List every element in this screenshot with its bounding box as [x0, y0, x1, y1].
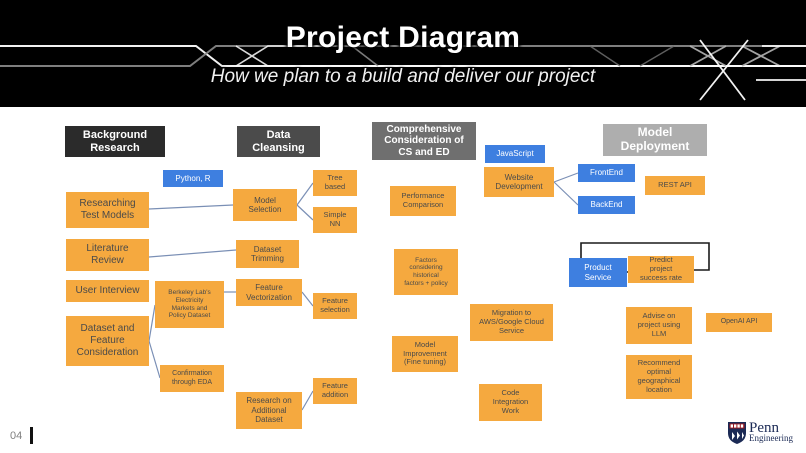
connector-website-dev-to-backend — [554, 182, 578, 205]
node-research-add[interactable]: Research on Additional Dataset — [236, 392, 302, 429]
penn-shield-icon — [727, 421, 747, 445]
node-openai-api[interactable]: OpenAI API — [706, 313, 772, 332]
node-researching[interactable]: Researching Test Models — [66, 192, 149, 228]
connector-feat-vector-to-feat-selection — [302, 292, 313, 306]
penn-engineering-logo: Penn Engineering — [727, 421, 799, 447]
page-number: 04 — [10, 430, 22, 442]
node-confirm-eda[interactable]: Confirmation through EDA — [160, 365, 224, 392]
connector-literature-to-dataset-trim — [149, 250, 236, 257]
node-dataset-feature[interactable]: Dataset and Feature Consideration — [66, 316, 149, 366]
node-code-integration[interactable]: Code Integration Work — [479, 384, 542, 421]
node-website-dev[interactable]: Website Development — [484, 167, 554, 197]
page-subtitle: How we plan to a build and deliver our p… — [0, 66, 806, 88]
node-feat-selection[interactable]: Feature selection — [313, 293, 357, 319]
node-rest-api[interactable]: REST API — [645, 176, 705, 195]
node-product-service[interactable]: Product Service — [569, 258, 627, 287]
node-migration[interactable]: Migration to AWS/Google Cloud Service — [470, 304, 553, 341]
node-perf-comp[interactable]: Performance Comparison — [390, 186, 456, 216]
node-javascript[interactable]: JavaScript — [485, 145, 545, 163]
node-predict[interactable]: Predict project success rate — [628, 256, 694, 283]
connector-research-add-to-feat-addition — [302, 391, 313, 410]
slide-canvas: Project Diagram How we plan to a build a… — [0, 0, 806, 453]
node-recommend-geo[interactable]: Recommend optimal geographical location — [626, 355, 692, 399]
connector-website-dev-to-frontend — [554, 173, 578, 182]
connector-model-selection-to-simple-nn — [297, 205, 313, 220]
section-header: Model Deployment — [603, 124, 707, 156]
node-feat-vector[interactable]: Feature Vectorization — [236, 279, 302, 306]
section-header: Comprehensive Consideration of CS and ED — [372, 122, 476, 160]
node-model-improve[interactable]: Model Improvement (Fine tuning) — [392, 336, 458, 372]
node-factors[interactable]: Factors considering historical factors +… — [394, 249, 458, 295]
node-user-interview[interactable]: User Interview — [66, 280, 149, 302]
logo-word-engineering: Engineering — [749, 434, 793, 443]
page-number-tick — [30, 427, 33, 444]
node-literature[interactable]: Literature Review — [66, 239, 149, 271]
node-dataset-trim[interactable]: Dataset Trimming — [236, 240, 299, 268]
node-backend[interactable]: BackEnd — [578, 196, 635, 214]
node-frontend[interactable]: FrontEnd — [578, 164, 635, 182]
node-model-selection[interactable]: Model Selection — [233, 189, 297, 221]
connector-dataset-feature-to-confirm-eda — [149, 341, 160, 378]
section-header: Background Research — [65, 126, 165, 157]
node-simple-nn[interactable]: Simple NN — [313, 207, 357, 233]
connector-researching-to-model-selection — [149, 205, 233, 209]
node-python-r[interactable]: Python, R — [163, 170, 223, 187]
node-tree-based[interactable]: Tree based — [313, 170, 357, 196]
connector-model-selection-to-tree-based — [297, 183, 313, 205]
node-berkeley[interactable]: Berkeley Lab's Electricity Markets and P… — [155, 281, 224, 328]
page-title: Project Diagram — [0, 21, 806, 55]
section-header: Data Cleansing — [237, 126, 320, 157]
node-advise-llm[interactable]: Advise on project using LLM — [626, 307, 692, 344]
node-feat-addition[interactable]: Feature addition — [313, 378, 357, 404]
